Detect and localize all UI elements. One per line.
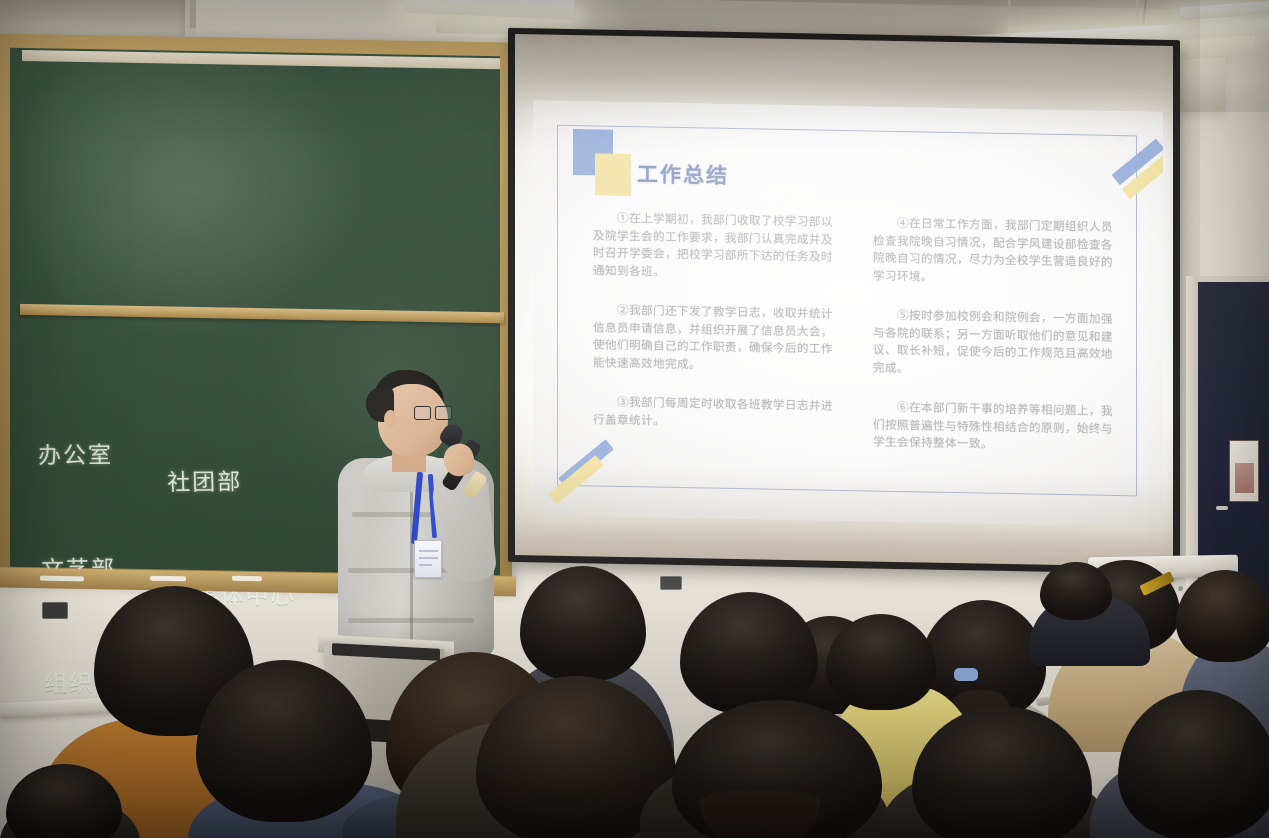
poster-artwork — [1235, 463, 1254, 493]
slide-paragraph: ③我部门每周定时收取各班教学日志并进行盖章统计。 — [593, 393, 833, 432]
glasses-lens-right — [435, 406, 452, 420]
hair-tie — [954, 668, 978, 681]
id-badge — [414, 540, 442, 578]
decor-square-yellow — [595, 153, 631, 196]
audience-ponytail — [700, 790, 820, 838]
slide-paragraph: ⑥在本部门新干事的培养等相问题上，我们按照普遍性与特殊性相结合的原则，始终与学生… — [873, 399, 1113, 456]
glasses-icon — [414, 406, 452, 422]
slide-body: ①在上学期初，我部门收取了校学习部以及院学生会的工作要求，我部门认真完成并及时召… — [593, 209, 1113, 466]
slide-paragraph: ④在日常工作方面，我部门定期组织人员检查我院晚自习情况，配合学风建设部检查各院晚… — [873, 215, 1113, 289]
chalk-line: 社团部 — [167, 463, 293, 502]
light-hanger-rod — [1008, 0, 1011, 34]
badge-text-line — [419, 557, 438, 559]
blackboard-divider-rail — [20, 304, 504, 323]
chalk-stick — [40, 576, 84, 582]
jacket-zipper — [410, 474, 413, 642]
door-poster — [1229, 440, 1259, 502]
chalk-stick — [150, 576, 186, 582]
badge-text-line — [419, 564, 432, 566]
wall-socket-right — [660, 576, 682, 590]
projection-screen-surface: 工作总结 ①在上学期初，我部门收取了校学习部以及院学生会的工作要求，我部门认真完… — [515, 34, 1173, 567]
slide-paragraph: ⑤按时参加校例会和院例会，一方面加强与各院的联系；另一方面听取他们的意见和建议、… — [873, 307, 1113, 381]
presenter — [318, 362, 508, 662]
slide-title: 工作总结 — [637, 158, 729, 190]
wall-socket — [42, 602, 68, 619]
glasses-lens-left — [414, 406, 431, 420]
presentation-slide: 工作总结 ①在上学期初，我部门收取了校学习部以及院学生会的工作要求，我部门认真完… — [533, 100, 1163, 527]
presenter-ear — [384, 410, 397, 428]
light-hanger-rod-2 — [1136, 0, 1139, 22]
audience-head — [1040, 562, 1112, 620]
slide-paragraph: ①在上学期初，我部门收取了校学习部以及院学生会的工作要求，我部门认真完成并及时召… — [593, 209, 833, 283]
door-handle[interactable] — [1216, 506, 1228, 510]
projection-screen: 工作总结 ①在上学期初，我部门收取了校学习部以及院学生会的工作要求，我部门认真完… — [508, 28, 1180, 574]
slide-paragraph: ②我部门还下发了教学日志，收取并统计信息员申请信息，并组织开展了信息员大会，使他… — [593, 301, 833, 375]
chalk-stick — [232, 576, 262, 582]
badge-text-line — [419, 550, 438, 552]
slide-column-right: ④在日常工作方面，我部门定期组织人员检查我院晚自习情况，配合学风建设部检查各院晚… — [873, 215, 1113, 466]
blackboard-top-rail — [22, 50, 500, 69]
slide-column-left: ①在上学期初，我部门收取了校学习部以及院学生会的工作要求，我部门认真完成并及时召… — [593, 209, 833, 460]
chalk-line: 办公室 — [38, 437, 114, 476]
classroom-scene: 办公室 文艺部 组织部 权益部 青年站 资助部 社团部 新媒体中心 体育部 学习… — [0, 0, 1269, 838]
